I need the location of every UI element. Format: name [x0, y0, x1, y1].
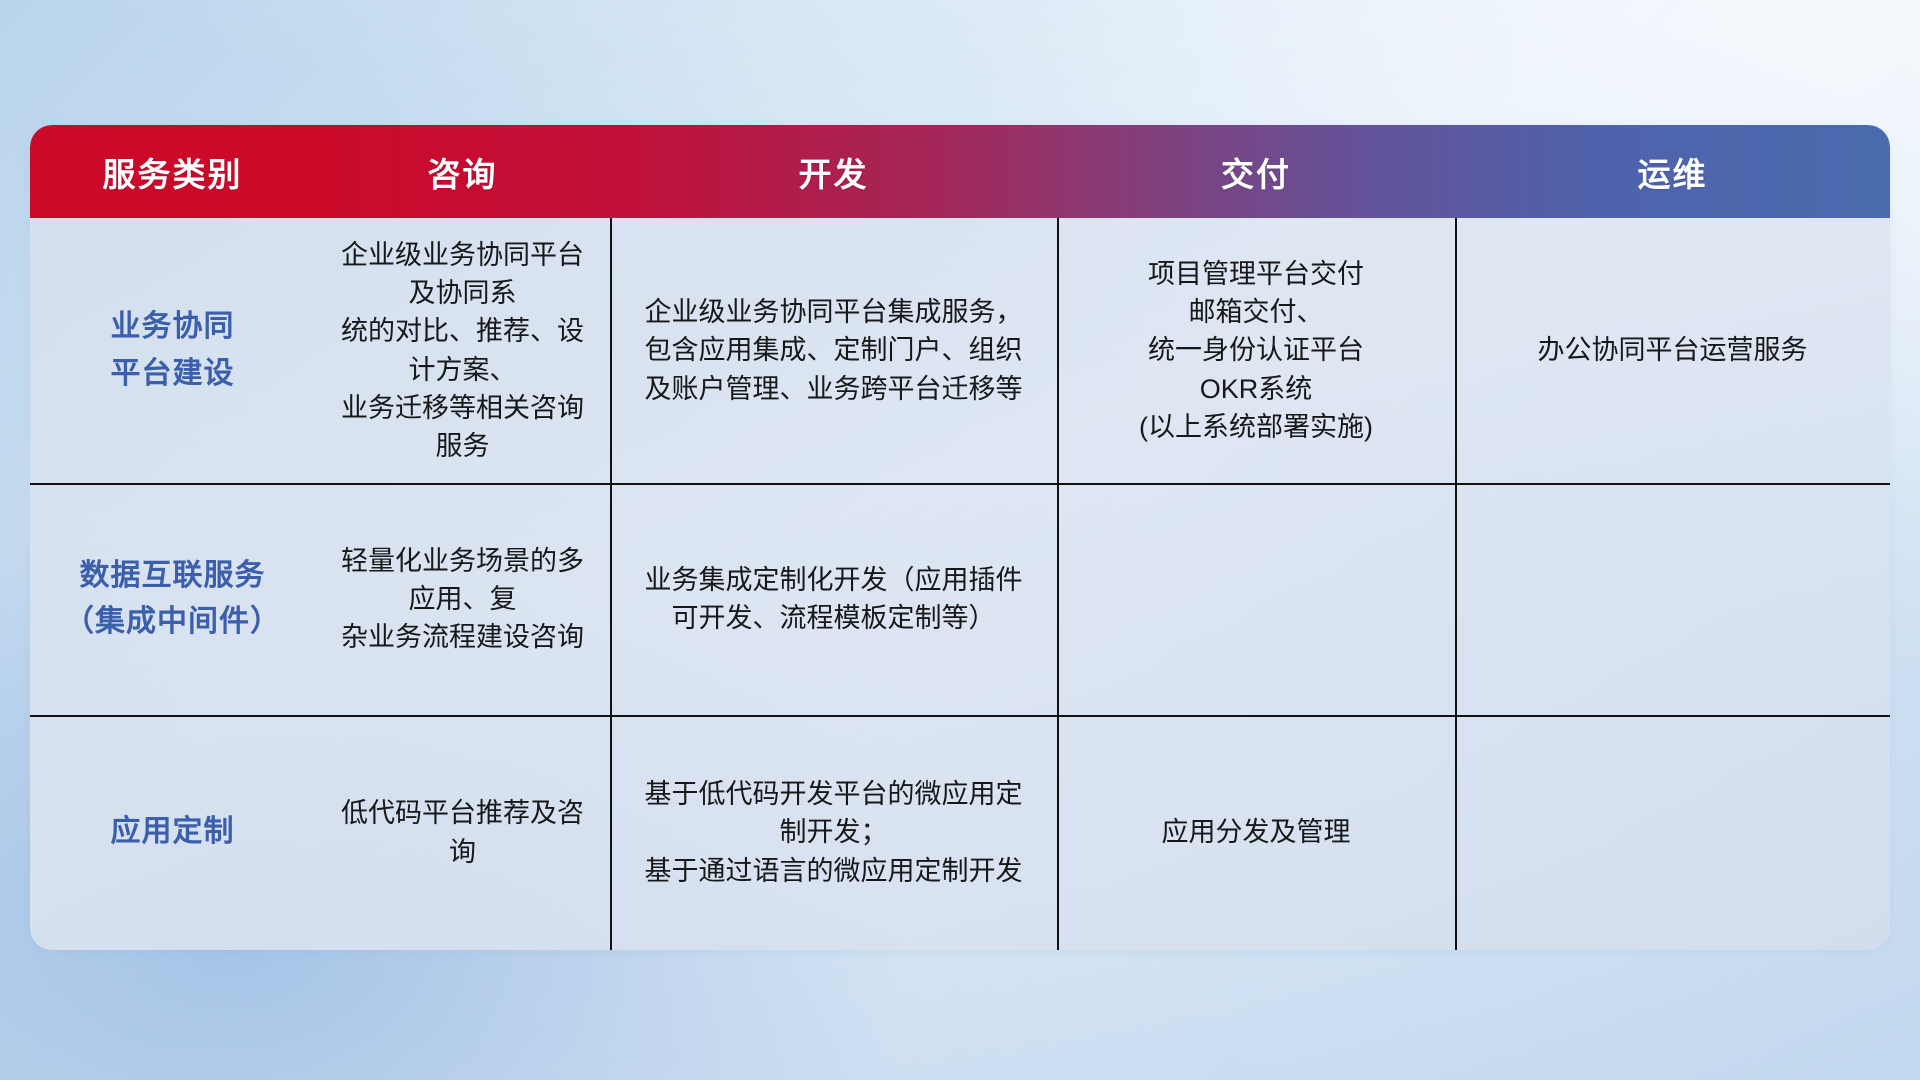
- row-category-label: 业务协同 平台建设: [30, 218, 315, 483]
- row-category-label: 数据互联服务 （集成中间件）: [30, 483, 315, 715]
- column-header-consulting: 咨询: [315, 125, 610, 218]
- column-header-delivery: 交付: [1057, 125, 1455, 218]
- table-body: 业务协同 平台建设 企业级业务协同平台及协同系 统的对比、推荐、设计方案、 业务…: [30, 218, 1890, 950]
- cell-operations: 办公协同平台运营服务: [1455, 218, 1890, 483]
- cell-development: 企业级业务协同平台集成服务， 包含应用集成、定制门户、组织 及账户管理、业务跨平…: [610, 218, 1057, 483]
- column-header-category: 服务类别: [30, 125, 315, 218]
- column-header-operations: 运维: [1455, 125, 1890, 218]
- cell-delivery: [1057, 483, 1455, 715]
- cell-development: 基于低代码开发平台的微应用定 制开发； 基于通过语言的微应用定制开发: [610, 715, 1057, 950]
- cell-consulting: 轻量化业务场景的多应用、复 杂业务流程建设咨询: [315, 483, 610, 715]
- cell-delivery: 应用分发及管理: [1057, 715, 1455, 950]
- table-header-row: 服务类别 咨询 开发 交付 运维: [30, 125, 1890, 218]
- cell-development: 业务集成定制化开发（应用插件 可开发、流程模板定制等）: [610, 483, 1057, 715]
- cell-consulting: 企业级业务协同平台及协同系 统的对比、推荐、设计方案、 业务迁移等相关咨询服务: [315, 218, 610, 483]
- cell-operations: [1455, 483, 1890, 715]
- row-category-label: 应用定制: [30, 715, 315, 950]
- cell-operations: [1455, 715, 1890, 950]
- table-row: 业务协同 平台建设 企业级业务协同平台及协同系 统的对比、推荐、设计方案、 业务…: [30, 218, 1890, 483]
- table-row: 应用定制 低代码平台推荐及咨询 基于低代码开发平台的微应用定 制开发； 基于通过…: [30, 715, 1890, 950]
- cell-consulting: 低代码平台推荐及咨询: [315, 715, 610, 950]
- table-row: 数据互联服务 （集成中间件） 轻量化业务场景的多应用、复 杂业务流程建设咨询 业…: [30, 483, 1890, 715]
- column-header-development: 开发: [610, 125, 1057, 218]
- service-matrix-table: 服务类别 咨询 开发 交付 运维 业务协同 平台建设 企业级业务协同平台及协同系…: [30, 125, 1890, 950]
- cell-delivery: 项目管理平台交付 邮箱交付、 统一身份认证平台 OKR系统 (以上系统部署实施): [1057, 218, 1455, 483]
